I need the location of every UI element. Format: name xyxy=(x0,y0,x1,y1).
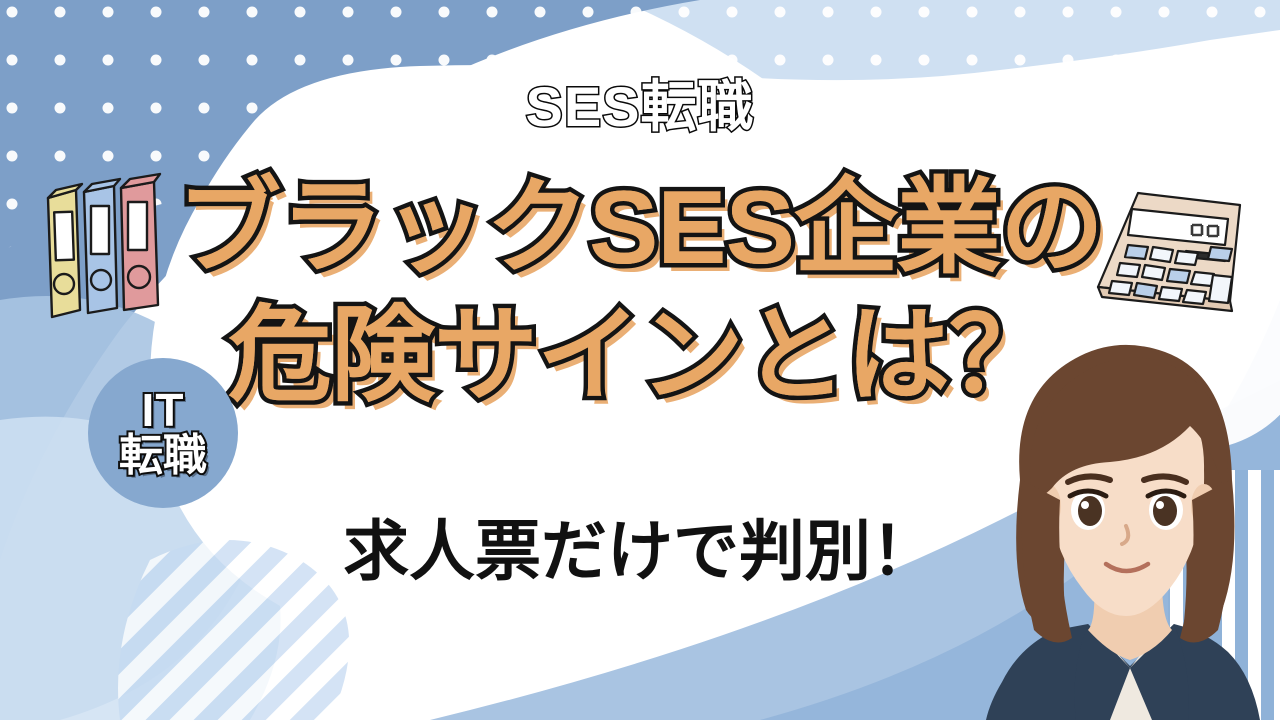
title-line-1-fill: ブラックSES企業の xyxy=(0,176,1280,280)
top-label: SES転職 xyxy=(0,62,1280,143)
subtitle: 求人票だけで判別！ xyxy=(0,498,1280,594)
badge-line-2: 転職 xyxy=(119,434,207,479)
banner-canvas: SES転職 ブラックSES企業の ブラックSES企業の ブラックSES企業の 危… xyxy=(0,0,1280,720)
badge-line-1: IT xyxy=(142,387,185,434)
it-tenshoku-badge: IT 転職 xyxy=(88,358,238,508)
title-line-1: ブラックSES企業の ブラックSES企業の ブラックSES企業の xyxy=(0,176,1280,296)
